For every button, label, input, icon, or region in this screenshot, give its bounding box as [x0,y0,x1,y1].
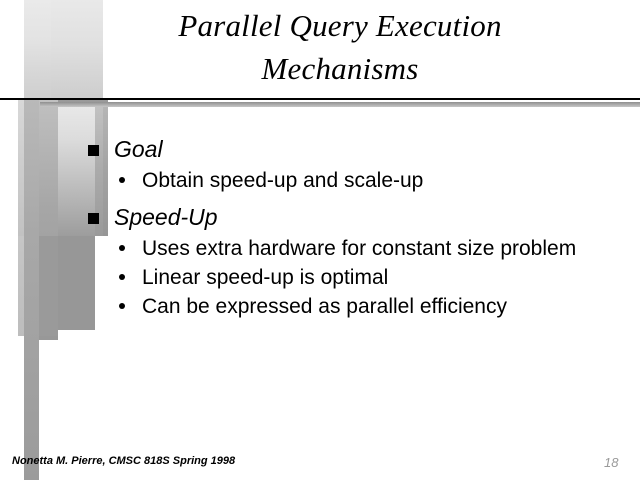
bullet-level2-parallel-efficiency-label: Can be expressed as parallel efficiency [142,295,507,318]
round-bullet-icon [119,245,125,251]
slide-body: Goal Obtain speed-up and scale-up Speed-… [86,133,631,322]
bullet-level1-goal-label: Goal [114,136,163,162]
page-title-line-1: Parallel Query Execution [60,4,620,47]
decoration-left-thin-strip-lower [18,236,24,336]
square-bullet-icon [88,213,99,224]
bullet-level1-goal: Goal [86,133,631,165]
bullet-level2-linear-speedup-label: Linear speed-up is optimal [142,266,388,289]
page-number: 18 [604,455,618,470]
footer-author-course: Nonetta M. Pierre, CMSC 818S Spring 1998 [12,455,235,467]
title-divider-shadow [40,102,640,107]
bullet-level2-obtain-speedup: Obtain speed-up and scale-up [112,167,631,194]
bullet-level2-obtain-speedup-label: Obtain speed-up and scale-up [142,169,423,192]
round-bullet-icon [119,303,125,309]
bullet-level1-speed-up: Speed-Up [86,201,631,233]
decoration-middle-column [39,100,58,340]
square-bullet-icon [88,145,99,156]
decoration-left-thin-strip-upper [18,100,24,236]
title-divider-line [0,98,640,100]
decoration-main-vertical-bar [24,100,39,480]
decoration-top-panel-left [24,0,51,99]
page-title: Parallel Query Execution Mechanisms [60,4,620,90]
decoration-body-band [39,236,58,336]
bullet-level1-speed-up-label: Speed-Up [114,204,218,230]
bullet-level2-parallel-efficiency: Can be expressed as parallel efficiency [112,293,631,320]
slide-canvas: Parallel Query Execution Mechanisms Goal… [0,0,640,480]
round-bullet-icon [119,177,125,183]
page-title-line-2: Mechanisms [60,47,620,90]
bullet-level2-extra-hardware-label: Uses extra hardware for constant size pr… [142,237,576,260]
bullet-level2-linear-speedup: Linear speed-up is optimal [112,264,631,291]
bullet-level2-extra-hardware: Uses extra hardware for constant size pr… [112,235,631,262]
round-bullet-icon [119,274,125,280]
